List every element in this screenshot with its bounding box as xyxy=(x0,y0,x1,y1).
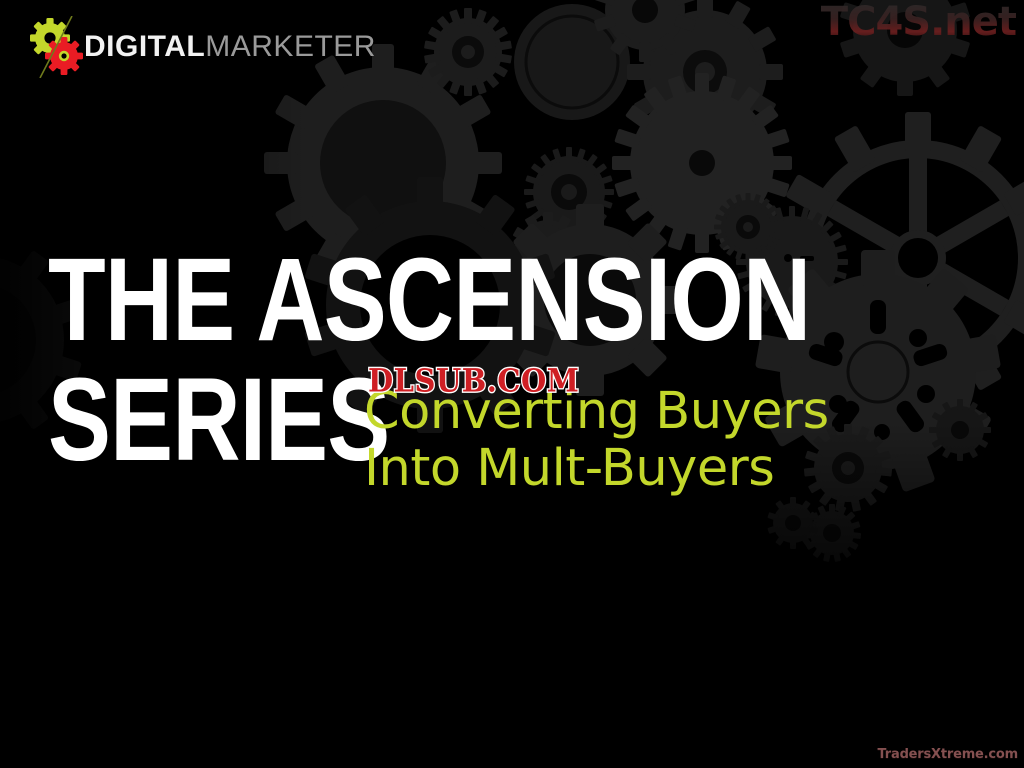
watermark-tc4s: TC4S.net xyxy=(821,2,1016,42)
watermark-dlsub: DLSUB.COM xyxy=(368,362,579,399)
brand-wordmark-bold: DIGITAL xyxy=(84,30,205,63)
brand-wordmark: DIGITALMARKETER xyxy=(84,32,376,62)
subtitle: Converting Buyers Into Mult-Buyers xyxy=(364,383,984,497)
watermark-tradersxtreme: TradersXtreme.com xyxy=(878,747,1018,762)
subtitle-line-2: Into Mult-Buyers xyxy=(364,440,984,497)
brand-logo: DIGITALMARKETER xyxy=(26,16,376,78)
headline-line-1: THE ASCENSION xyxy=(48,243,608,359)
presentation-slide: DIGITALMARKETER THE ASCENSION SERIES Con… xyxy=(0,0,1024,768)
brand-wordmark-light: MARKETER xyxy=(205,30,376,63)
two-gears-logo-icon xyxy=(26,16,88,78)
